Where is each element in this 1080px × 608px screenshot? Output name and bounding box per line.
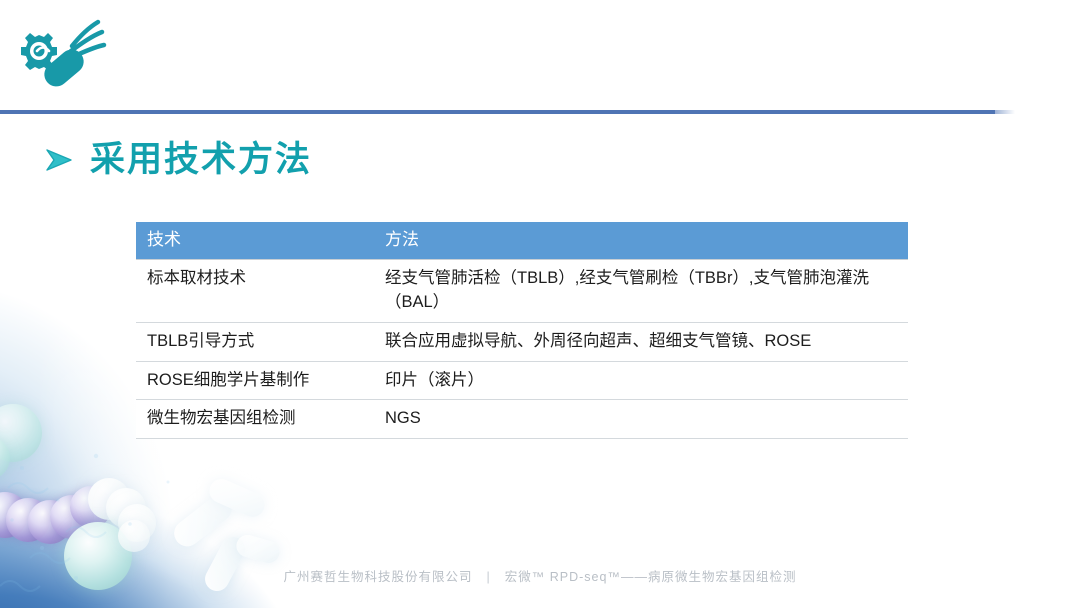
microbe-bacillus: [201, 533, 249, 595]
microbe-coccus: [0, 404, 42, 462]
footer-separator: |: [473, 570, 505, 584]
cell-technique: 微生物宏基因组检测: [136, 400, 374, 439]
cell-method: 联合应用虚拟导航、外周径向超声、超细支气管镜、ROSE: [374, 322, 908, 361]
microbe-coccus: [106, 488, 146, 528]
cell-technique: TBLB引导方式: [136, 322, 374, 361]
microbe-coccus: [0, 436, 10, 480]
table-row: 微生物宏基因组检测 NGS: [136, 400, 908, 439]
arrow-bullet-icon: [42, 143, 76, 177]
microbe-coccus: [118, 504, 156, 542]
footer-product: 宏微™ RPD-seq™——病原微生物宏基因组检测: [505, 570, 797, 584]
microbe-coccus: [118, 520, 150, 552]
microbe-coccus: [50, 495, 94, 539]
header-divider-tail: [995, 110, 1015, 114]
table-row: TBLB引导方式 联合应用虚拟导航、外周径向超声、超细支气管镜、ROSE: [136, 322, 908, 361]
cell-technique: ROSE细胞学片基制作: [136, 361, 374, 400]
microbe-bacillus: [206, 475, 269, 521]
microbe-coccus: [0, 492, 28, 538]
cell-method: NGS: [374, 400, 908, 439]
table-row: 标本取材技术 经支气管肺活检（TBLB）,经支气管刷检（TBBr）,支气管肺泡灌…: [136, 259, 908, 322]
table-header: 技术 方法: [136, 222, 908, 259]
microbe-coccus: [6, 498, 50, 542]
microbe-coccus: [70, 486, 112, 528]
slide-root: 采用技术方法 技术 方法 标本取材技术 经支气管肺活检（TBLB）,经支气管刷检…: [0, 0, 1080, 608]
technique-method-table: 技术 方法 标本取材技术 经支气管肺活检（TBLB）,经支气管刷检（TBBr）,…: [136, 222, 908, 439]
header-divider: [0, 110, 995, 114]
cell-method: 经支气管肺活检（TBLB）,经支气管刷检（TBBr）,支气管肺泡灌洗（BAL）: [374, 259, 908, 322]
table-header-row: 技术 方法: [136, 222, 908, 259]
slide-footer: 广州赛哲生物科技股份有限公司|宏微™ RPD-seq™——病原微生物宏基因组检测: [0, 566, 1080, 585]
page-title: 采用技术方法: [42, 142, 312, 177]
footer-company: 广州赛哲生物科技股份有限公司: [284, 570, 473, 584]
column-header-technique: 技术: [136, 222, 374, 259]
column-header-method: 方法: [374, 222, 908, 259]
microbe-bacillus: [169, 490, 237, 551]
page-title-text: 采用技术方法: [90, 142, 312, 177]
microbe-coccus: [88, 478, 130, 520]
table-body: 标本取材技术 经支气管肺活检（TBLB）,经支气管刷检（TBBr）,支气管肺泡灌…: [136, 259, 908, 439]
cell-method: 印片（滚片）: [374, 361, 908, 400]
microbe-coccus: [28, 500, 72, 544]
cell-technique: 标本取材技术: [136, 259, 374, 322]
table-row: ROSE细胞学片基制作 印片（滚片）: [136, 361, 908, 400]
microbe-gear-logo: [14, 16, 110, 100]
microbe-bacillus: [234, 532, 282, 565]
